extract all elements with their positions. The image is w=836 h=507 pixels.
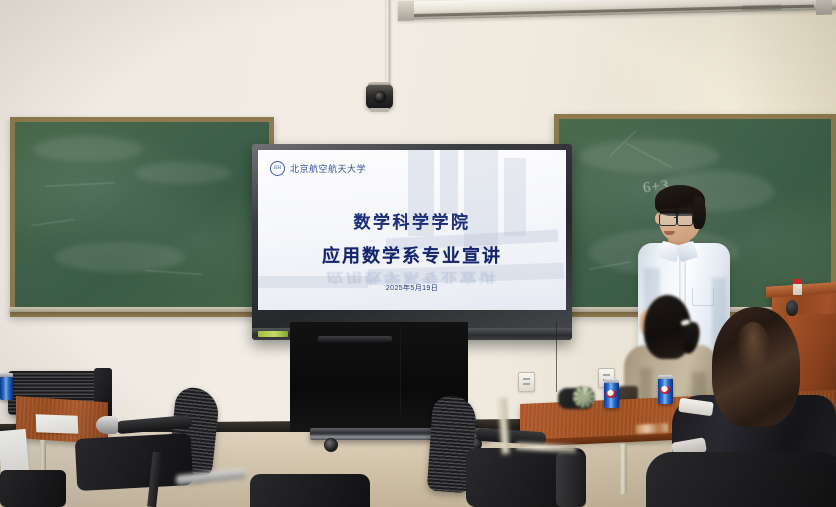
shirt-pocket — [692, 288, 714, 306]
soda-can-left-lid — [0, 373, 13, 377]
slide-subtitle: 应用数学系专业宣讲 — [258, 242, 566, 268]
slide-watermark — [440, 150, 458, 214]
table-cards[interactable] — [636, 423, 668, 434]
slide-date: 2025年5月19日 — [258, 283, 566, 293]
soda-can-center-logo-icon — [606, 390, 617, 398]
chalk-smear — [55, 242, 185, 272]
university-seal-icon: BH — [270, 161, 285, 176]
blackboard-left — [10, 117, 274, 317]
office-chair-seat[interactable] — [250, 474, 370, 507]
blackboard-left-surface — [15, 122, 269, 312]
camera-lens-icon — [374, 91, 386, 103]
display-screen[interactable]: BH 北京航空航天大学 数学科学学院 应用数学系专业宣讲 应用数学系专业宣讲 2… — [258, 150, 566, 310]
slide-university-logo: BH 北京航空航天大学 — [270, 161, 366, 176]
lecture-hall-photo: 6+3 BH 北京航空航天大学 数学科学学院 应用数学系专业宣讲 应用数学系专业… — [0, 0, 836, 507]
wall-power-outlet[interactable] — [518, 372, 535, 392]
camera-mount-pole — [385, 0, 390, 92]
table-leg — [620, 444, 627, 494]
presenter-hair-side — [693, 196, 706, 229]
eyeglasses-lens-right — [677, 213, 693, 226]
water-bottle-cap — [793, 279, 802, 284]
chalk-line — [145, 270, 203, 275]
chalk-smear — [135, 162, 231, 184]
office-chair-hinge — [96, 416, 118, 434]
interactive-smart-display[interactable]: BH 北京航空航天大学 数学科学学院 应用数学系专业宣讲 应用数学系专业宣讲 2… — [252, 144, 572, 340]
soda-can-center-lid — [604, 379, 619, 383]
screen-housing-label — [742, 5, 782, 11]
backpack-mesh-ball — [573, 386, 595, 408]
eyeglasses-lens-left — [659, 213, 677, 226]
university-name: 北京航空航天大学 — [290, 162, 366, 175]
eyeglasses-bridge — [674, 217, 678, 218]
slide-title: 数学科学学院 — [258, 208, 566, 233]
hair-highlight — [736, 322, 770, 374]
chalk-tray-left — [10, 307, 264, 312]
office-chair-base — [556, 452, 586, 507]
office-chair-seat[interactable] — [0, 470, 66, 507]
chalk-smear — [33, 136, 143, 162]
paper-sheet[interactable] — [36, 414, 79, 434]
chalk-line — [45, 182, 115, 187]
screen-housing-end-right — [816, 0, 832, 15]
soda-can-left[interactable] — [0, 376, 13, 400]
screen-housing-end-left — [398, 1, 414, 21]
soda-can-right-lid — [658, 375, 673, 379]
camera-base — [370, 108, 389, 112]
office-chair-back[interactable] — [646, 452, 836, 507]
microphone-icon[interactable] — [786, 300, 798, 316]
soda-can-right-logo-icon — [660, 386, 671, 394]
cart-caster-wheel — [324, 438, 338, 452]
display-cart-crossbar — [318, 336, 392, 342]
display-asset-sticker — [258, 331, 288, 337]
chalk-line — [31, 219, 75, 226]
